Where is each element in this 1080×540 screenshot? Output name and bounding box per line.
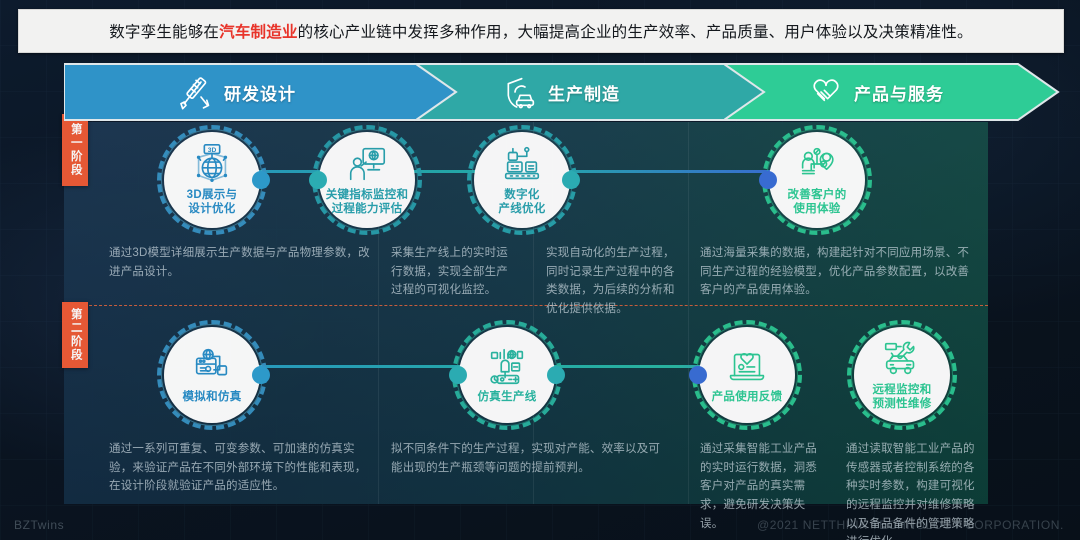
- content-panel: 第一阶段 第二阶段 3D: [64, 122, 988, 504]
- node-description-3: 实现自动化的生产过程，同时记录生产过程中的各类数据，为后续的分析和优化提供依据。: [546, 244, 676, 319]
- connector-dot-left: [449, 366, 467, 384]
- node-circle: 仿真生产线: [459, 327, 555, 423]
- node-description-5: 通过一系列可重复、可变参数、可加速的仿真实验，来验证产品在不同外部环境下的性能和…: [109, 440, 367, 496]
- node-description-1: 通过3D模型详细展示生产数据与产品物理参数，改进产品设计。: [109, 244, 371, 281]
- headline-highlight: 汽车制造业: [219, 24, 298, 41]
- node-circle: 改善客户的 使用体验: [769, 132, 865, 228]
- phase-arrow-bar: 研发设计 生产制造: [64, 62, 1060, 122]
- node-circle: 关键指标监控和 过程能力评估: [319, 132, 415, 228]
- node-circle: 3D: [164, 132, 260, 228]
- node-customer-experience[interactable]: 改善客户的 使用体验: [769, 132, 865, 228]
- car-shield-icon: [500, 72, 540, 112]
- connector-dot: [689, 366, 707, 384]
- footer-copyright: @2021 NETTHINK TECHNOLOGY CORPORATION.: [757, 518, 1064, 532]
- stage-badge-1: 第一阶段: [62, 114, 88, 186]
- node-ring-solid: [161, 324, 263, 426]
- node-circle: 模拟和仿真: [164, 327, 260, 423]
- ruler-pencil-icon: [176, 72, 216, 112]
- node-ring-solid: [316, 129, 418, 231]
- node-ring-solid: [766, 129, 868, 231]
- slide-canvas: 数字孪生能够在汽车制造业的核心产业链中发挥多种作用，大幅提高企业的生产效率、产品…: [0, 0, 1080, 540]
- node-ring-solid: [471, 129, 573, 231]
- node-circle: 产品使用反馈: [699, 327, 795, 423]
- stage-row-1: 3D: [64, 122, 988, 305]
- connector-dot: [562, 171, 580, 189]
- headline-text: 数字孪生能够在汽车制造业的核心产业链中发挥多种作用，大幅提高企业的生产效率、产品…: [109, 20, 973, 42]
- node-digital-production-line[interactable]: 数字化 产线优化: [474, 132, 570, 228]
- node-kpi-monitoring[interactable]: 关键指标监控和 过程能力评估: [319, 132, 415, 228]
- node-circle: 远程监控和 预测性维修: [854, 327, 950, 423]
- node-circle: 数字化 产线优化: [474, 132, 570, 228]
- node-ring-solid: [851, 324, 953, 426]
- stage-badge-2: 第二阶段: [62, 302, 88, 368]
- phase-arrow-3[interactable]: 产品与服务: [724, 62, 1060, 122]
- connector-dot: [252, 171, 270, 189]
- node-description-4: 通过海量采集的数据，构建起针对不同应用场景、不同生产过程的经验模型，优化产品参数…: [700, 244, 970, 300]
- connector-dot: [759, 171, 777, 189]
- node-ring-solid: [161, 129, 263, 231]
- stage-row-2: 模拟和仿真: [64, 305, 988, 504]
- footer-brand: BZTwins: [14, 518, 64, 532]
- node-ring-solid: [456, 324, 558, 426]
- node-simulation[interactable]: 模拟和仿真: [164, 327, 260, 423]
- phase-label-3: 产品与服务: [854, 80, 944, 105]
- node-description-6: 拟不同条件下的生产过程，实现对产能、效率以及可能出现的生产瓶颈等问题的提前预判。: [391, 440, 671, 477]
- headline-suffix: 的核心产业链中发挥多种作用，大幅提高企业的生产效率、产品质量、用户体验以及决策精…: [298, 24, 973, 41]
- node-simulated-line[interactable]: 仿真生产线: [459, 327, 555, 423]
- phase-arrow-2[interactable]: 生产制造: [416, 62, 772, 122]
- node-description-2: 采集生产线上的实时运行数据，实现全部生产过程的可视化监控。: [391, 244, 515, 300]
- phase-label-2: 生产制造: [548, 80, 620, 105]
- headline-banner: 数字孪生能够在汽车制造业的核心产业链中发挥多种作用，大幅提高企业的生产效率、产品…: [18, 9, 1064, 53]
- node-ring-solid: [696, 324, 798, 426]
- phase-arrow-1[interactable]: 研发设计: [64, 62, 464, 122]
- node-product-feedback[interactable]: 产品使用反馈: [699, 327, 795, 423]
- phase-label-1: 研发设计: [224, 80, 296, 105]
- node-remote-monitoring[interactable]: 远程监控和 预测性维修: [854, 327, 950, 423]
- connector-dot-right: [547, 366, 565, 384]
- connector-dot: [252, 366, 270, 384]
- node-3d-display[interactable]: 3D: [164, 132, 260, 228]
- handshake-heart-icon: [806, 72, 846, 112]
- headline-prefix: 数字孪生能够在: [109, 24, 219, 41]
- connector-dot: [309, 171, 327, 189]
